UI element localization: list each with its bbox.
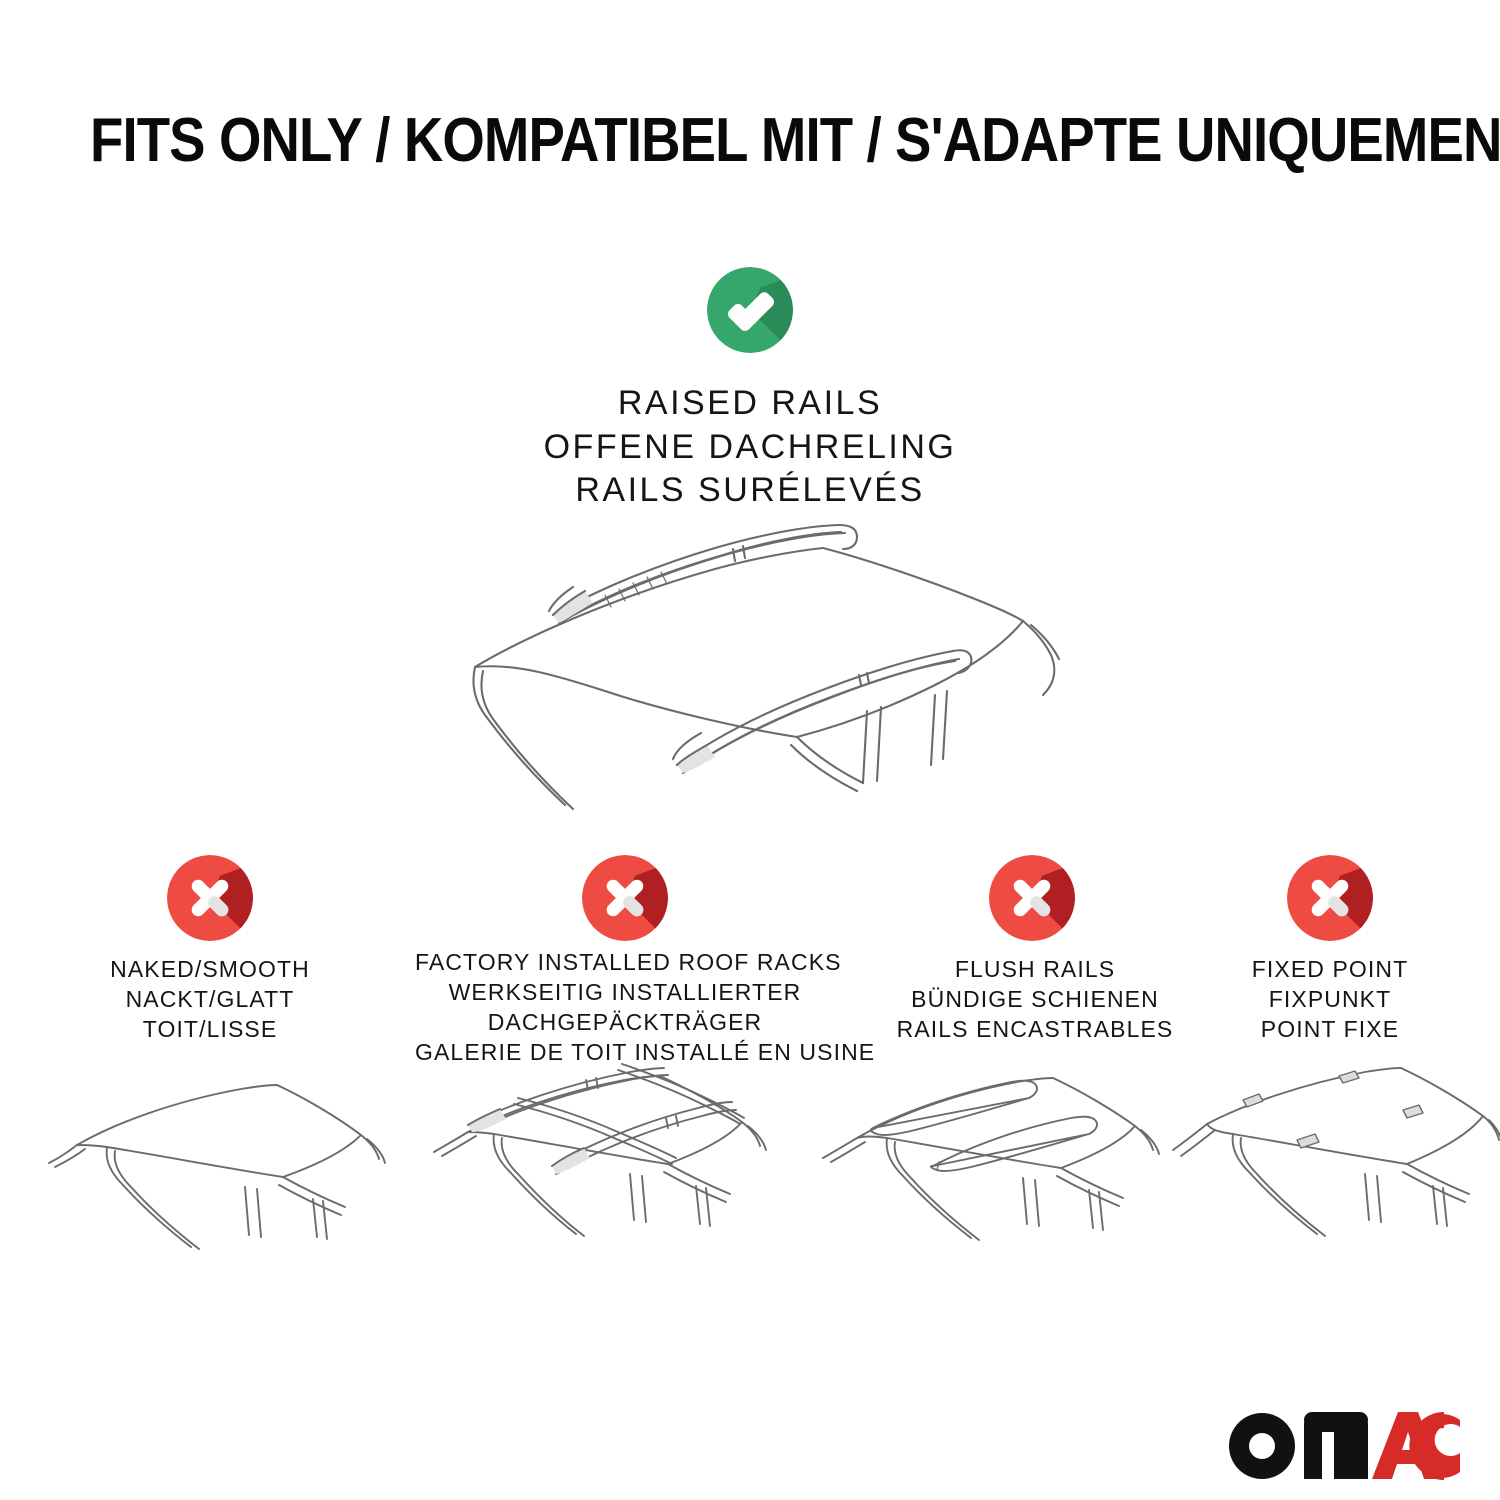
compatible-label-line-1: RAISED RAILS	[250, 382, 1250, 426]
label-flush-rails-line-3: RAILS ENCASTRABLES	[855, 1015, 1215, 1045]
compatible-label-line-2: OFFENE DACHRELING	[250, 426, 1250, 470]
car-roof-factory-racks-drawing	[410, 1062, 780, 1307]
omac-logo	[1222, 1400, 1462, 1486]
label-factory-racks-line-1: FACTORY INSTALLED ROOF RACKS	[415, 948, 835, 978]
compatible-label-line-3: RAILS SURÉLEVÉS	[250, 469, 1250, 513]
car-roof-raised-rails-drawing	[415, 515, 1095, 835]
label-factory-racks-line-3: DACHGEPÄCKTRÄGER	[415, 1008, 835, 1038]
car-roof-flush-rails-drawing	[805, 1062, 1175, 1307]
label-fixed-point: FIXED POINT FIXPUNKT POINT FIXE	[1165, 955, 1495, 1045]
label-factory-racks: FACTORY INSTALLED ROOF RACKS WERKSEITIG …	[415, 948, 835, 1068]
check-circle-icon	[707, 267, 793, 353]
compatible-label: RAISED RAILS OFFENE DACHRELING RAILS SUR…	[250, 382, 1250, 513]
label-factory-racks-line-2: WERKSEITIG INSTALLIERTER	[415, 978, 835, 1008]
label-flush-rails: FLUSH RAILS BÜNDIGE SCHIENEN RAILS ENCAS…	[855, 955, 1215, 1045]
car-roof-naked-smooth-drawing	[45, 1065, 395, 1305]
label-flush-rails-line-2: BÜNDIGE SCHIENEN	[855, 985, 1215, 1015]
label-naked-smooth-line-1: NAKED/SMOOTH	[10, 955, 410, 985]
label-fixed-point-line-1: FIXED POINT	[1165, 955, 1495, 985]
cross-circle-icon-fixed-point	[1287, 855, 1373, 941]
label-fixed-point-line-2: FIXPUNKT	[1165, 985, 1495, 1015]
label-flush-rails-line-1: FLUSH RAILS	[855, 955, 1215, 985]
label-naked-smooth-line-3: TOIT/LISSE	[10, 1015, 410, 1045]
cross-circle-icon-factory-racks	[582, 855, 668, 941]
label-fixed-point-line-3: POINT FIXE	[1165, 1015, 1495, 1045]
label-naked-smooth: NAKED/SMOOTH NACKT/GLATT TOIT/LISSE	[10, 955, 410, 1045]
label-naked-smooth-line-2: NACKT/GLATT	[10, 985, 410, 1015]
page-title: FITS ONLY / KOMPATIBEL MIT / S'ADAPTE UN…	[90, 105, 1410, 176]
fitment-chart-page: FITS ONLY / KOMPATIBEL MIT / S'ADAPTE UN…	[0, 0, 1500, 1500]
cross-circle-icon-naked-smooth	[167, 855, 253, 941]
cross-circle-icon-flush-rails	[989, 855, 1075, 941]
car-roof-fixed-point-drawing	[1165, 1062, 1500, 1307]
